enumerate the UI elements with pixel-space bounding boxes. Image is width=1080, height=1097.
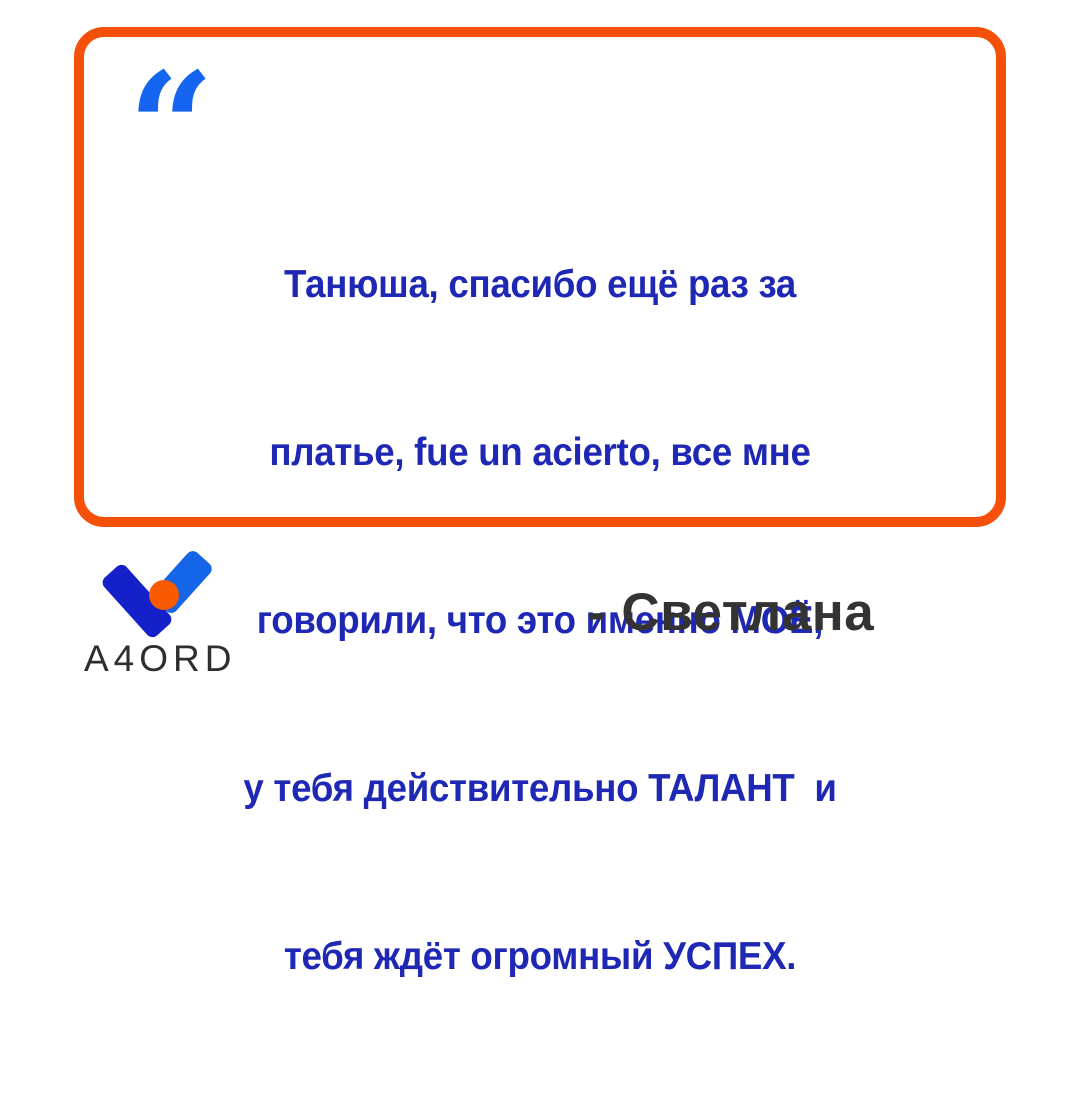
quote-card: “ Танюша, спасибо ещё раз за платье, fue… [74,27,1006,527]
logo-dot-icon [149,580,179,610]
attribution-name: - Светлана [588,582,874,643]
footer: A4ORD - Светлана [0,540,1080,690]
quote-line: Танюша, спасибо ещё раз за [111,257,968,313]
quote-line: у тебя действительно ТАЛАНТ и [111,761,968,817]
quote-line: тебя ждёт огромный УСПЕХ. [111,929,968,985]
quote-line: платье, fue un acierto, все мне [111,425,968,481]
a4ord-checkmark-logo-icon [110,558,220,630]
brand-wordmark: A4ORD [84,638,284,680]
brand-lockup: A4ORD [84,558,284,680]
testimonial-card-root: “ Танюша, спасибо ещё раз за платье, fue… [0,0,1080,690]
